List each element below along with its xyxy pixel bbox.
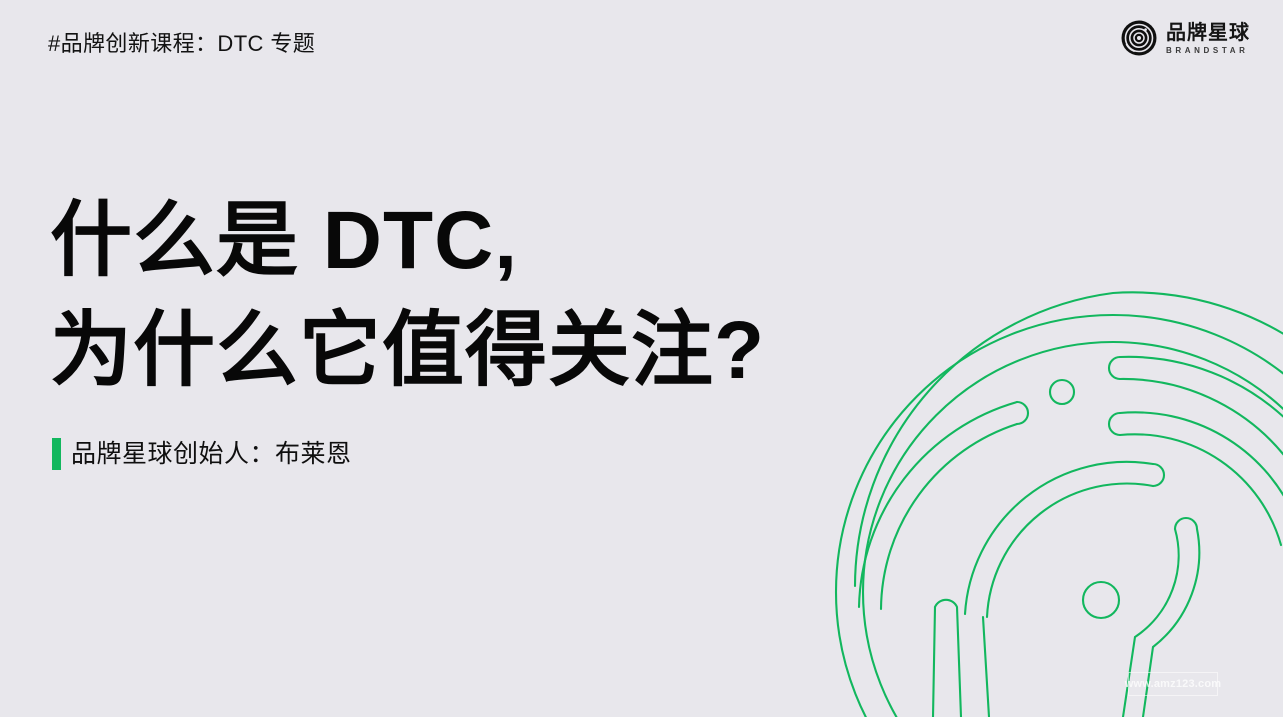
brand-logo: 品牌星球 BRANDSTAR [1121,20,1250,56]
brand-name-cn: 品牌星球 [1166,22,1250,44]
concentric-arcs-graphic [823,317,1283,717]
slide-title: 什么是 DTC, 为什么它值得关注? [50,186,870,406]
title-line-2: 为什么它值得关注? [50,296,870,406]
title-line-1: 什么是 DTC, [50,186,870,296]
slide-header: #品牌创新课程：DTC 专题 品牌星球 BRANDSTAR [0,0,1283,86]
presentation-slide: #品牌创新课程：DTC 专题 品牌星球 BRANDSTAR 什么是 DT [0,0,1283,717]
brand-name-en: BRANDSTAR [1166,45,1250,56]
course-tag: #品牌创新课程：DTC 专题 [48,28,315,60]
speaker-label: 品牌星球创始人：布莱恩 [71,437,352,471]
site-watermark: www.amz123.com [1128,672,1218,696]
slide-subtitle: 品牌星球创始人：布莱恩 [52,435,352,473]
brandstar-planet-icon [1121,20,1157,56]
watermark-text: www.amz123.com [1125,678,1222,690]
brand-wordmark: 品牌星球 BRANDSTAR [1166,21,1250,56]
subtitle-accent-bar [52,438,61,470]
